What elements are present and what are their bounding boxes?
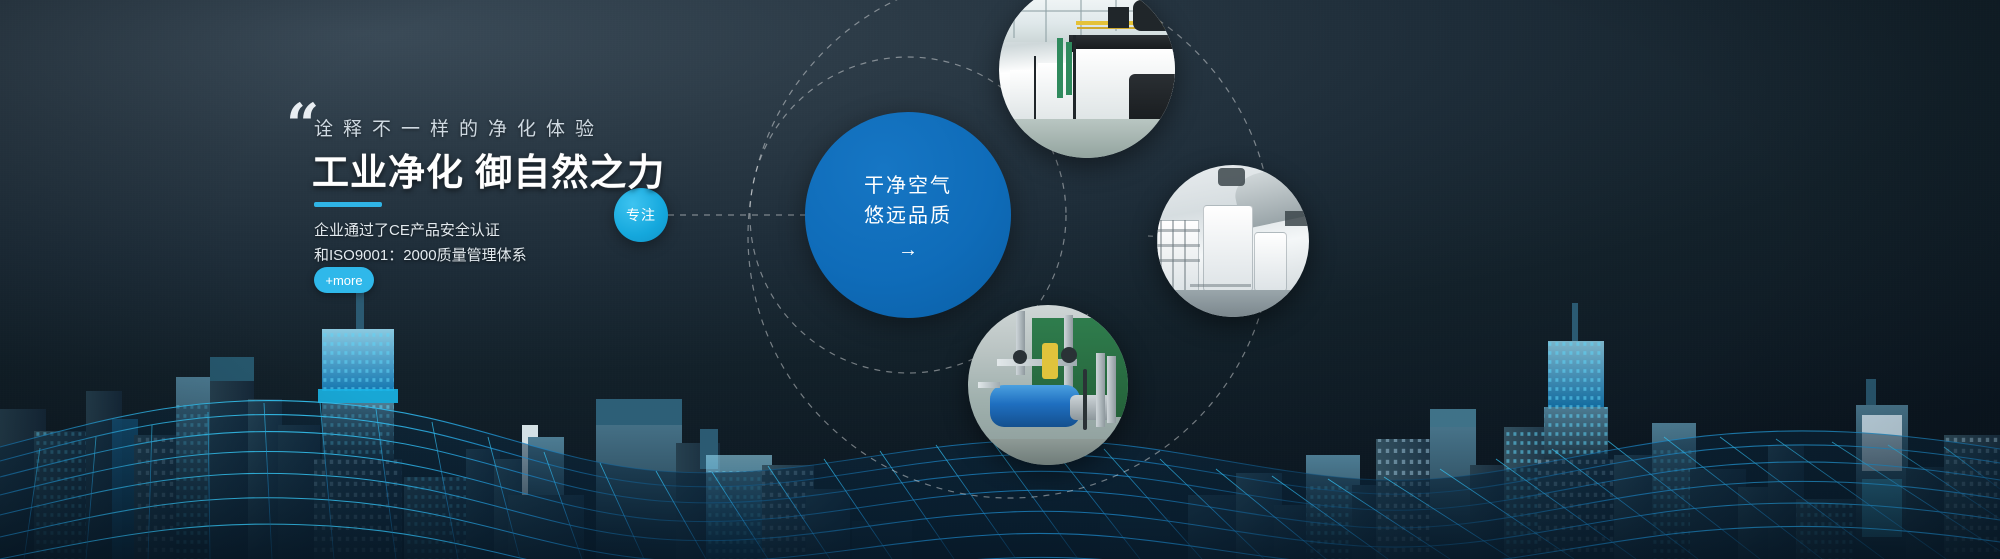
photo-circle-production-machinery[interactable] (1157, 165, 1309, 317)
page-title: 工业净化 御自然之力 (312, 142, 665, 196)
accent-rule (314, 202, 382, 207)
more-button[interactable]: +more (314, 267, 374, 293)
photo-circle-industrial-plant-hall[interactable] (999, 0, 1175, 158)
photo-circle-pressure-vessel-piping[interactable] (968, 305, 1128, 465)
main-circle-line1: 干净空气 (864, 171, 952, 201)
photo-a-image (999, 0, 1175, 158)
hero-banner: 专注 干净空气 悠远品质 → “ 诠释不一样的净化体验 工业净化 御自然之力 企… (0, 0, 2000, 559)
photo-c-image (968, 305, 1128, 465)
photo-b-image (1157, 165, 1309, 317)
hero-eyebrow: 诠释不一样的净化体验 (314, 114, 604, 141)
focus-badge[interactable]: 专注 (614, 188, 668, 242)
hero-description-line-2: 和ISO9001：2000质量管理体系 (314, 243, 527, 268)
hero-description-line-1: 企业通过了CE产品安全认证 (314, 218, 527, 243)
arrow-right-icon[interactable]: → (898, 240, 918, 260)
main-circle-line2: 悠远品质 (864, 201, 952, 231)
main-slogan-circle[interactable]: 干净空气 悠远品质 → (805, 112, 1011, 318)
focus-badge-label: 专注 (626, 205, 656, 225)
hero-description: 企业通过了CE产品安全认证 和ISO9001：2000质量管理体系 (314, 218, 527, 268)
